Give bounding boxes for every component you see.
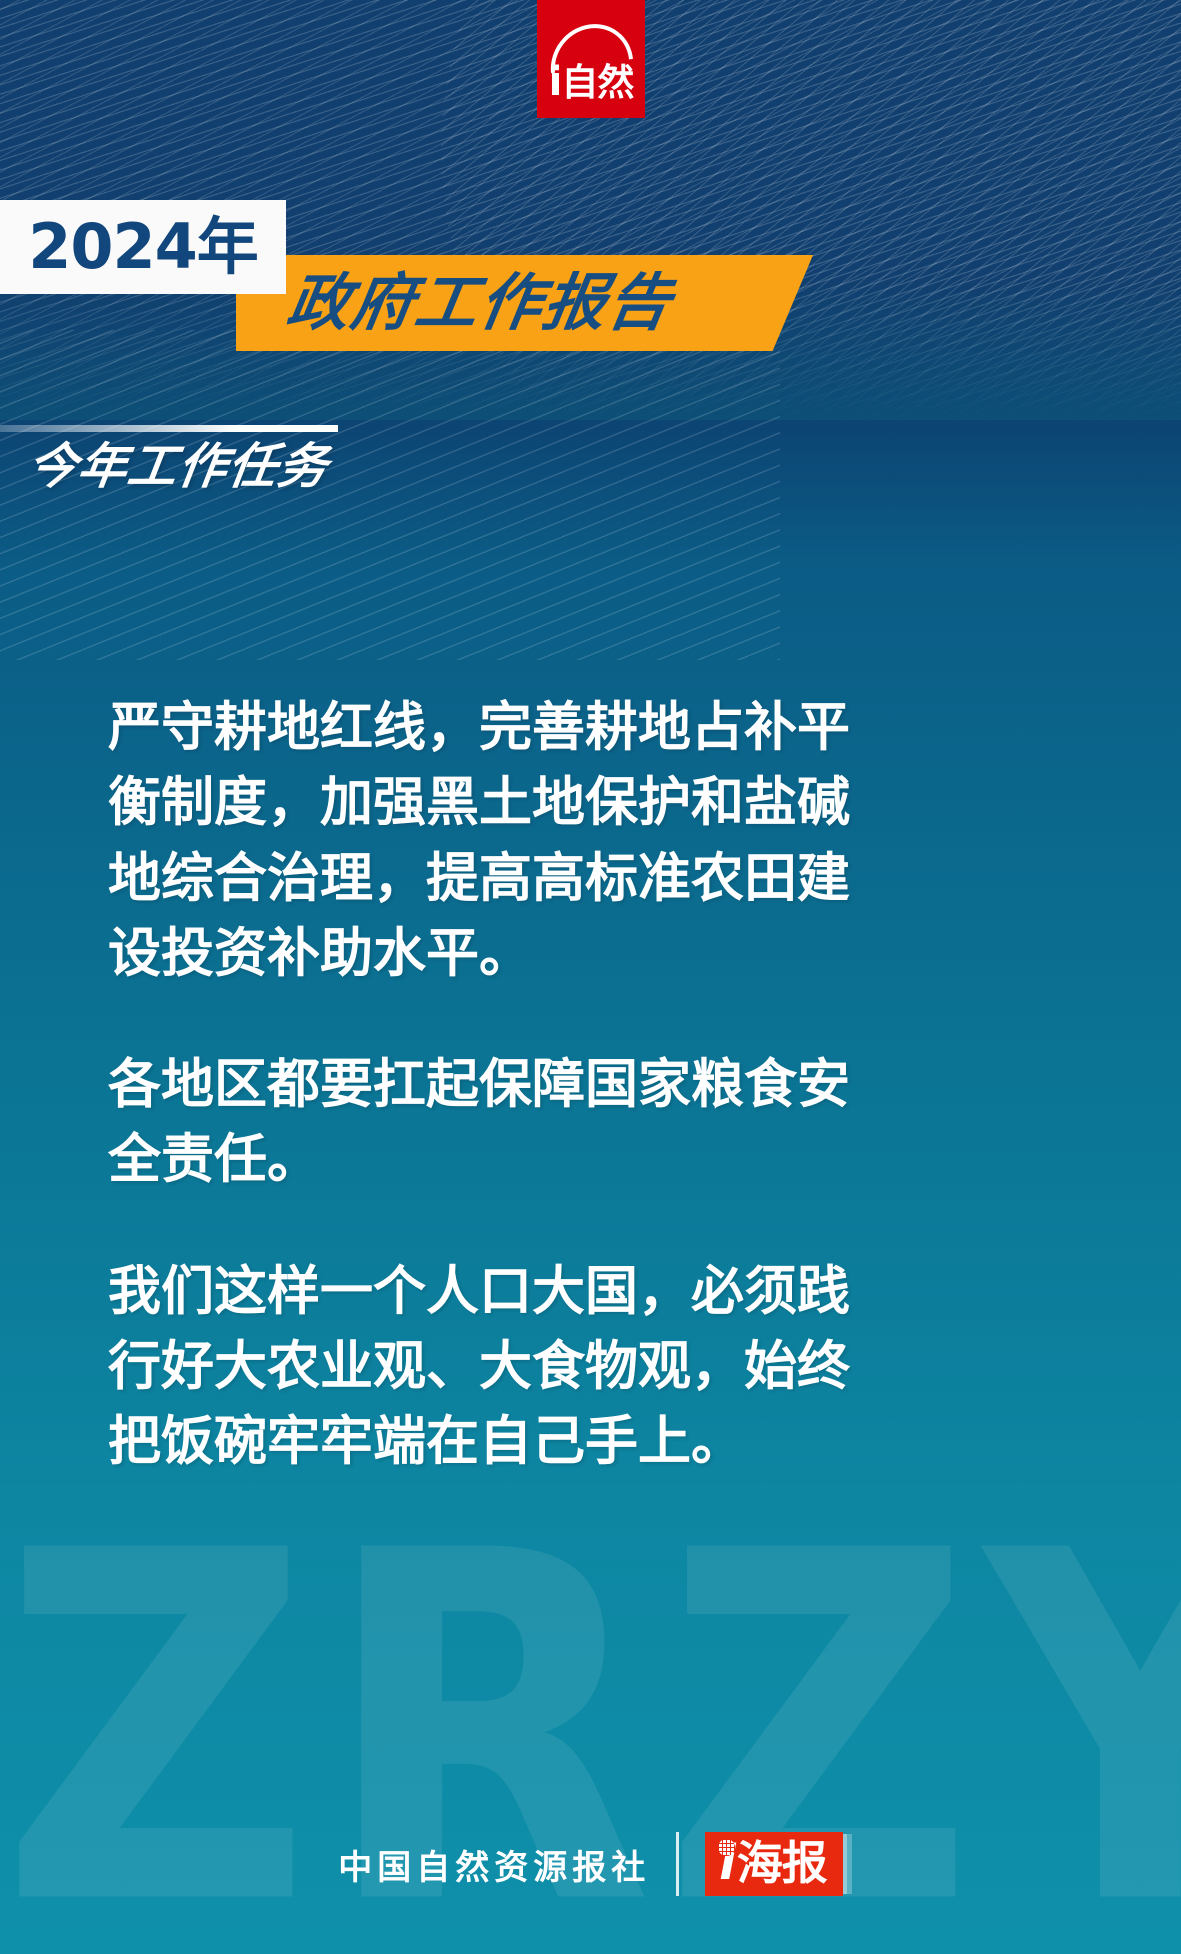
report-title-banner: 政府工作报告 bbox=[236, 255, 813, 351]
ihaibao-logo: i海报 bbox=[705, 1832, 842, 1896]
publisher-name: 中国自然资源报社 bbox=[338, 1840, 650, 1889]
section-rule-divider bbox=[0, 425, 338, 432]
year-badge: 2024年 bbox=[0, 200, 286, 294]
body-content: 严守耕地红线，完善耕地占补平衡制度，加强黑土地保护和盐碱地综合治理，提高高标准农… bbox=[108, 690, 868, 1479]
logo-text: i自然 bbox=[549, 62, 634, 118]
ihaibao-cn-text: 海报 bbox=[737, 1836, 827, 1890]
logo-cn-text: 自然 bbox=[561, 61, 633, 104]
logo-i-letter: i bbox=[549, 59, 562, 105]
body-paragraph: 我们这样一个人口大国，必须践行好大农业观、大食物观，始终把饭碗牢牢端在自己手上。 bbox=[108, 1254, 868, 1480]
body-paragraph: 严守耕地红线，完善耕地占补平衡制度，加强黑土地保护和盐碱地综合治理，提高高标准农… bbox=[108, 690, 868, 991]
ihaibao-logo-text: i海报 bbox=[719, 1839, 826, 1887]
footer-divider bbox=[676, 1832, 679, 1896]
year-label: 2024年 bbox=[28, 216, 258, 278]
izran-logo: i自然 bbox=[537, 0, 645, 118]
page-title: 政府工作报告 bbox=[283, 272, 677, 334]
poster-root: i自然 2024年 政府工作报告 今年工作任务 ZRZY 严守耕地红线，完善耕地… bbox=[0, 0, 1181, 1954]
body-paragraph: 各地区都要扛起保障国家粮食安全责任。 bbox=[108, 1047, 868, 1198]
footer: 中国自然资源报社 i海报 bbox=[0, 1832, 1181, 1896]
section-heading: 今年工作任务 bbox=[24, 440, 332, 494]
